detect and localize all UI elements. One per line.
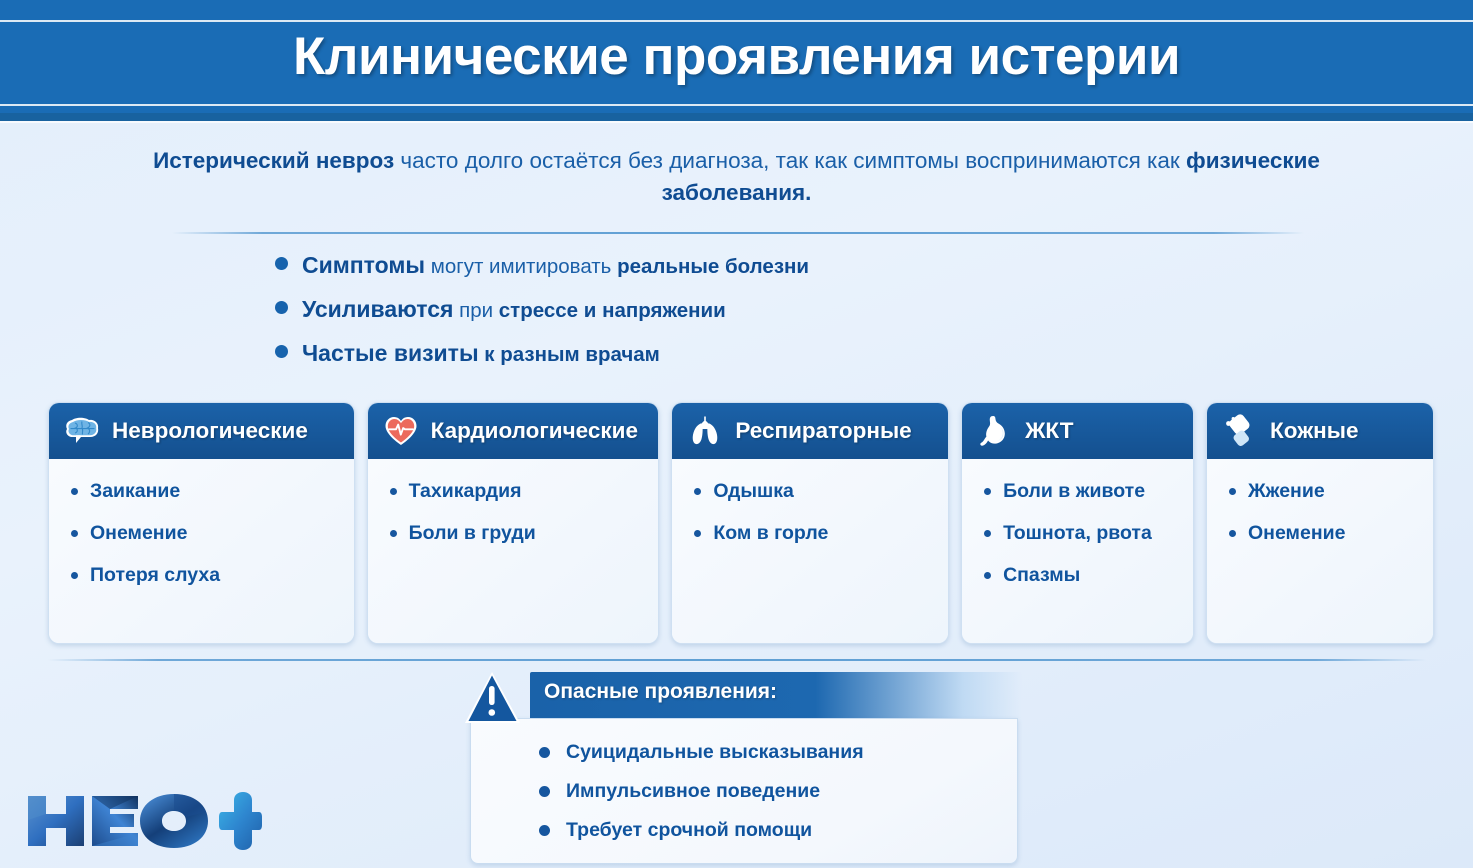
list-item-label: Ком в горле — [713, 521, 828, 546]
key-point-text: Частые визиты к разным врачам — [302, 340, 660, 367]
heart-pulse-icon — [382, 412, 420, 450]
intro-paragraph: Истерический невроз часто долго остаётся… — [140, 145, 1333, 209]
card-title: ЖКТ — [1025, 418, 1073, 444]
list-item: Онемение — [71, 521, 340, 546]
card-body: Одышка Ком в горле — [672, 459, 948, 643]
card-respiratory: Респираторные Одышка Ком в горле — [671, 402, 949, 644]
bullet-dot-icon — [71, 530, 78, 537]
card-header: Неврологические — [49, 403, 354, 459]
list-item: Жжение — [1229, 479, 1419, 504]
divider-middle — [48, 659, 1426, 661]
danger-signs-title: Опасные проявления: — [544, 680, 777, 704]
list-item: Импульсивное поведение — [539, 772, 1017, 811]
list-item-label: Одышка — [713, 479, 794, 504]
bullet-dot-icon — [694, 530, 701, 537]
list-item: Ком в горле — [694, 521, 934, 546]
page-header-band: Клинические проявления истерии — [0, 0, 1473, 113]
card-header: Кожные — [1207, 403, 1433, 459]
header-underline — [0, 113, 1473, 121]
key-point-rest-bold: к разным врачам — [484, 343, 660, 366]
bullet-dot-icon — [71, 488, 78, 495]
header-underline-hairline — [0, 121, 1473, 123]
card-title: Респираторные — [735, 418, 911, 444]
card-title: Кардиологические — [431, 418, 638, 444]
key-point-rest-plain: при — [453, 299, 498, 322]
list-item: Боли в груди — [390, 521, 645, 546]
bullet-dot-icon — [694, 488, 701, 495]
key-point-rest-bold: стрессе и напряжении — [499, 299, 726, 322]
list-item: Заикание — [71, 479, 340, 504]
card-title: Кожные — [1270, 418, 1358, 444]
bullet-dot-icon — [275, 301, 288, 314]
list-item: Потеря слуха — [71, 563, 340, 588]
list-item-label: Боли в груди — [409, 521, 536, 546]
bullet-dot-icon — [539, 825, 550, 836]
list-item-label: Импульсивное поведение — [566, 780, 820, 803]
page-title: Клинические проявления истерии — [0, 26, 1473, 87]
list-item: Тошнота, рвота — [984, 521, 1179, 546]
key-point-lead: Усиливаются — [302, 296, 453, 322]
intro-lead: Истерический невроз — [153, 148, 394, 173]
list-item-label: Боли в животе — [1003, 479, 1145, 504]
key-point-lead: Симптомы — [302, 252, 425, 278]
warning-triangle-icon — [462, 670, 536, 728]
bullet-dot-icon — [390, 488, 397, 495]
key-point-lead: Частые визиты — [302, 340, 479, 366]
bullet-dot-icon — [275, 345, 288, 358]
symptom-cards-row: Неврологические Заикание Онемение Потеря… — [48, 402, 1434, 644]
list-item-label: Потеря слуха — [90, 563, 220, 588]
list-item-label: Требует срочной помощи — [566, 819, 812, 842]
card-body: Жжение Онемение — [1207, 459, 1433, 643]
brain-icon — [63, 412, 101, 450]
bullet-dot-icon — [71, 572, 78, 579]
list-item: Боли в животе — [984, 479, 1179, 504]
neo-plus-logo — [22, 790, 262, 852]
bullet-dot-icon — [1229, 488, 1236, 495]
bullet-dot-icon — [984, 530, 991, 537]
list-item-label: Заикание — [90, 479, 180, 504]
list-item: Онемение — [1229, 521, 1419, 546]
list-item-label: Спазмы — [1003, 563, 1080, 588]
key-point-rest-plain: могут имитировать — [425, 255, 617, 278]
stomach-icon — [976, 412, 1014, 450]
list-item-label: Жжение — [1248, 479, 1325, 504]
card-cardiological: Кардиологические Тахикардия Боли в груди — [367, 402, 660, 644]
bullet-dot-icon — [539, 786, 550, 797]
header-rule-top — [0, 20, 1473, 22]
bullet-dot-icon — [539, 747, 550, 758]
key-point-rest-bold: реальные болезни — [617, 255, 809, 278]
bullet-dot-icon — [1229, 530, 1236, 537]
bullet-dot-icon — [984, 488, 991, 495]
skin-patch-icon — [1221, 412, 1259, 450]
key-points-list: Симптомы могут имитировать реальные боле… — [275, 252, 1175, 384]
lungs-icon — [686, 412, 724, 450]
danger-signs-panel: Суицидальные высказывания Импульсивное п… — [462, 672, 1022, 868]
key-point-row: Симптомы могут имитировать реальные боле… — [275, 252, 1175, 296]
list-item: Спазмы — [984, 563, 1179, 588]
header-rule-bottom — [0, 104, 1473, 106]
list-item: Одышка — [694, 479, 934, 504]
card-body: Тахикардия Боли в груди — [368, 459, 659, 643]
card-body: Заикание Онемение Потеря слуха — [49, 459, 354, 643]
card-header: Кардиологические — [368, 403, 659, 459]
key-point-row: Частые визиты к разным врачам — [275, 340, 1175, 384]
key-point-text: Усиливаются при стрессе и напряжении — [302, 296, 726, 323]
list-item: Требует срочной помощи — [539, 811, 1017, 850]
key-point-text: Симптомы могут имитировать реальные боле… — [302, 252, 809, 279]
list-item-label: Тахикардия — [409, 479, 522, 504]
intro-middle: часто долго остаётся без диагноза, так к… — [394, 148, 1186, 173]
list-item: Суицидальные высказывания — [539, 733, 1017, 772]
list-item-label: Суицидальные высказывания — [566, 741, 864, 764]
card-header: ЖКТ — [962, 403, 1193, 459]
card-body: Боли в животе Тошнота, рвота Спазмы — [962, 459, 1193, 643]
bullet-dot-icon — [275, 257, 288, 270]
bullet-dot-icon — [390, 530, 397, 537]
list-item-label: Онемение — [1248, 521, 1345, 546]
bullet-dot-icon — [984, 572, 991, 579]
key-point-row: Усиливаются при стрессе и напряжении — [275, 296, 1175, 340]
card-neurological: Неврологические Заикание Онемение Потеря… — [48, 402, 355, 644]
danger-signs-body: Суицидальные высказывания Импульсивное п… — [470, 718, 1018, 864]
divider-top — [172, 232, 1304, 234]
list-item-label: Онемение — [90, 521, 187, 546]
card-dermatological: Кожные Жжение Онемение — [1206, 402, 1434, 644]
list-item: Тахикардия — [390, 479, 645, 504]
card-title: Неврологические — [112, 418, 308, 444]
list-item-label: Тошнота, рвота — [1003, 521, 1152, 546]
card-gastrointestinal: ЖКТ Боли в животе Тошнота, рвота Спазмы — [961, 402, 1194, 644]
card-header: Респираторные — [672, 403, 948, 459]
